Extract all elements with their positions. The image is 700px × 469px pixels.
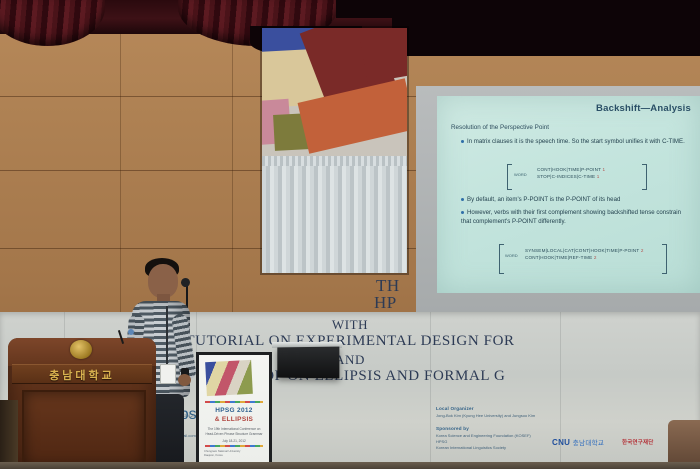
slide-bullet-2: By default, an item's P-POINT is the P-P… [461, 196, 693, 205]
matrix-bracket-left [507, 164, 512, 190]
slide-bullet-1: In matrix clauses it is the speech time.… [461, 138, 689, 147]
matrix-tag: 1 [603, 167, 606, 172]
speaker-hand [178, 374, 191, 386]
feature-matrix-2: WORD SYNSEM|LOCAL|CAT|CONT|HOOK|TIME|P-P… [499, 244, 667, 272]
art-lower-curtain [262, 156, 407, 273]
poster-title-line1: HPSG 2012 [199, 407, 269, 414]
poster-body: Chungnam National University Daejeon, Ko… [204, 450, 264, 459]
bullet-dot-icon [461, 198, 464, 201]
banner-info-right-heading: Local Organizer [436, 406, 474, 411]
art-collage [262, 28, 407, 158]
bullet-dot-icon [461, 211, 464, 214]
conference-poster: HPSG 2012 & ELLIPSIS The 19th Internatio… [199, 355, 269, 466]
photo-scene: Backshift—Analysis Resolution of the Per… [0, 0, 700, 469]
cnu-logo: CNU 충남대학교 [552, 437, 604, 447]
banner-info-right2-heading: Sponsored by [436, 426, 469, 431]
projection-screen: Backshift—Analysis Resolution of the Per… [437, 96, 700, 293]
podium-university-text: 충남대학교 [12, 367, 152, 383]
matrix-row: CONT|HOOK|TIME|P-POINT 1 [537, 167, 605, 174]
podium-nameplate: 충남대학교 [12, 364, 152, 384]
feature-matrix-1: WORD CONT|HOOK|TIME|P-POINT 1 STOP|C-IND… [507, 164, 647, 188]
slide-title: Backshift—Analysis [596, 103, 691, 114]
lectern-podium: 충남대학교 [8, 338, 156, 469]
wall-art-panel [262, 28, 407, 273]
speaker-lanyard [166, 306, 168, 364]
matrix-tag: 1 [597, 174, 600, 179]
matrix-label: WORD [505, 253, 518, 258]
slide-bullet-3: However, verbs with their first compleme… [461, 209, 683, 227]
banner-info-right-body: Jong-Bok Kim (Kyung Hee University) and … [436, 413, 606, 419]
speaker-head [148, 264, 178, 298]
curtain-shadow [336, 0, 392, 18]
poster-title-line2: & ELLIPSIS [199, 416, 269, 423]
matrix-bracket-right [642, 164, 647, 190]
matrix-bracket-right [662, 244, 667, 274]
bullet-dot-icon [461, 140, 464, 143]
slide-subtitle: Resolution of the Perspective Point [451, 124, 549, 131]
banner-line-with: WITH [0, 317, 700, 333]
speaker-name-badge [160, 364, 176, 384]
floor-strip [0, 462, 700, 469]
banner-occluded-hp: HP [374, 293, 397, 313]
matrix-row: SYNSEM|LOCAL|CAT|CONT|HOOK|TIME|P-POINT … [525, 248, 644, 255]
university-emblem-icon [70, 340, 92, 359]
matrix-label: WORD [514, 172, 527, 177]
matrix-row: STOP|C-INDICES|C-TIME 1 [537, 174, 605, 181]
foreground-dark-left [0, 400, 18, 469]
matrix-row: CONT|HOOK|TIME|REF-TIME 2 [525, 255, 644, 262]
curtain-dark-right [392, 0, 700, 56]
podium-indicator-light [128, 329, 134, 335]
poster-subtitle: The 19th International Conference on Hea… [199, 427, 269, 437]
poster-dates: July 18-21, 2012 [199, 439, 269, 444]
matrix-tag: 2 [594, 255, 597, 260]
podium-front-panel [22, 390, 146, 469]
matrix-bracket-left [499, 244, 504, 274]
matrix-tag: 2 [641, 248, 644, 253]
cnu-logo-korean: 충남대학교 [573, 440, 604, 447]
stage-monitor [277, 347, 339, 379]
poster-stand: HPSG 2012 & ELLIPSIS The 19th Internatio… [196, 352, 272, 469]
poster-artwork [205, 360, 253, 396]
sponsor-logo-red: 한국연구재단 [622, 438, 654, 446]
